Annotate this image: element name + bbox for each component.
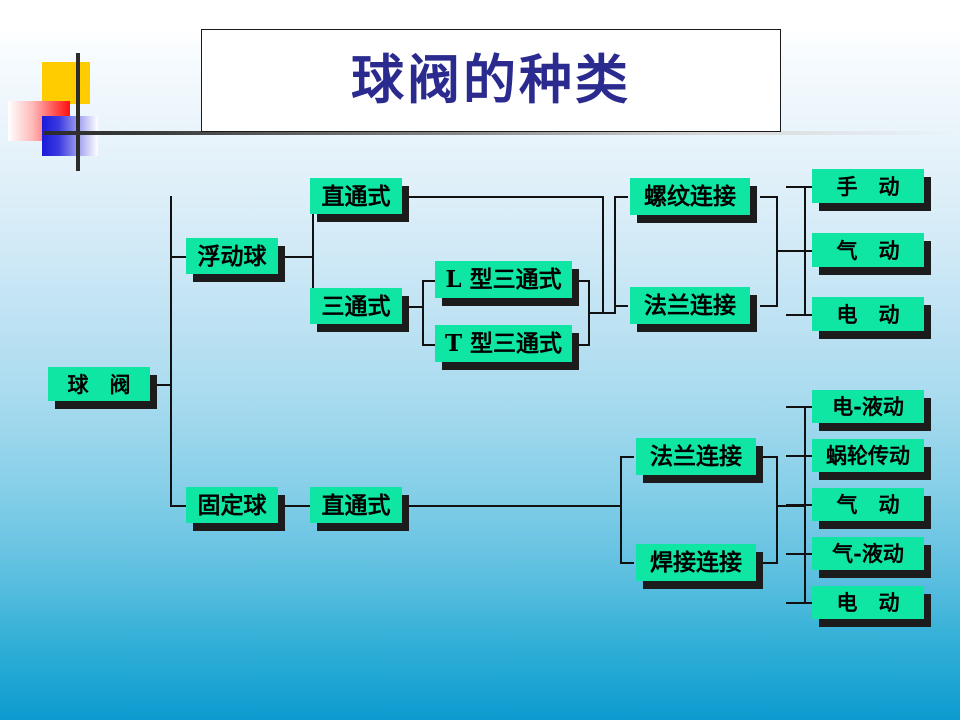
connector-to-pneumatic-bottom — [786, 504, 814, 506]
node-l-three-way[interactable]: L 型三通式 — [435, 261, 572, 298]
node-root-ball-valve[interactable]: 球 阀 — [48, 367, 150, 401]
node-flange-connection-top[interactable]: 法兰连接 — [630, 287, 750, 324]
node-face: 固定球 — [186, 487, 278, 523]
logo-yellow-square — [42, 62, 90, 104]
connector-upper-merge-join — [588, 312, 616, 314]
node-pneumatic-top[interactable]: 气 动 — [812, 233, 924, 267]
node-face: 直通式 — [310, 487, 402, 523]
node-face: 手 动 — [812, 169, 924, 203]
node-weld-connection[interactable]: 焊接连接 — [636, 544, 756, 581]
node-electro-hydraulic[interactable]: 电-液动 — [812, 390, 924, 423]
node-t-three-way[interactable]: T 型三通式 — [435, 325, 572, 362]
connector-conn-branch-vertical — [614, 196, 616, 312]
node-pneumatic-bottom[interactable]: 气 动 — [812, 488, 924, 521]
connector-to-pneumatic-hydraulic — [786, 553, 814, 555]
node-face: L 型三通式 — [435, 261, 572, 298]
connector-to-electric-bottom — [786, 602, 814, 604]
connector-to-thread — [614, 196, 628, 198]
node-label: 直通式 — [322, 185, 391, 208]
connector-to-electric-top — [786, 314, 814, 316]
connector-threeway-vertical — [422, 280, 424, 346]
slide-canvas: 球阀的种类 — [0, 0, 960, 720]
connector-bottom-conn-vertical — [620, 456, 622, 564]
logo-blue-gradient-rect — [42, 116, 98, 156]
node-three-way[interactable]: 三通式 — [310, 288, 402, 324]
node-face: 气 动 — [812, 233, 924, 267]
node-face: 法兰连接 — [630, 287, 750, 324]
node-label: 螺纹连接 — [644, 185, 736, 208]
node-label: 法兰连接 — [644, 294, 736, 317]
connector-straight-top-right — [400, 196, 604, 198]
node-manual[interactable]: 手 动 — [812, 169, 924, 203]
page-title: 球阀的种类 — [351, 54, 631, 107]
node-face: 浮动球 — [186, 238, 278, 274]
node-flange-connection-bottom[interactable]: 法兰连接 — [636, 438, 756, 475]
connector-to-manual — [786, 186, 814, 188]
node-label: 焊接连接 — [650, 551, 742, 574]
node-face: 气 动 — [812, 488, 924, 521]
node-face: 直通式 — [310, 178, 402, 214]
node-label: 气-液动 — [832, 543, 904, 564]
node-face: 螺纹连接 — [630, 178, 750, 215]
node-label: 电 动 — [837, 592, 900, 613]
node-face: 法兰连接 — [636, 438, 756, 475]
node-face: T 型三通式 — [435, 325, 572, 362]
node-label: 气 动 — [837, 494, 900, 515]
connector-straight-bottom-right — [400, 505, 622, 507]
connector-threeway-to-l — [422, 280, 436, 282]
connector-threeway-to-t — [422, 344, 436, 346]
node-face: 电 动 — [812, 297, 924, 331]
node-face: 气-液动 — [812, 537, 924, 570]
connector-to-weld — [620, 562, 634, 564]
node-face: 蜗轮传动 — [812, 439, 924, 472]
node-face: 电 动 — [812, 586, 924, 619]
node-fixed-ball[interactable]: 固定球 — [186, 487, 278, 523]
node-label: T 型三通式 — [445, 332, 562, 355]
node-label: 电 动 — [837, 304, 900, 325]
connector-floating-stem — [282, 256, 314, 258]
node-face: 焊接连接 — [636, 544, 756, 581]
node-straight-through-bottom[interactable]: 直通式 — [310, 487, 402, 523]
node-straight-through-top[interactable]: 直通式 — [310, 178, 402, 214]
node-face: 电-液动 — [812, 390, 924, 423]
connector-to-flange-bottom — [620, 456, 634, 458]
node-label: 球 阀 — [68, 374, 131, 395]
node-electric-top[interactable]: 电 动 — [812, 297, 924, 331]
node-thread-connection[interactable]: 螺纹连接 — [630, 178, 750, 215]
node-label: 浮动球 — [198, 245, 267, 268]
node-label: 直通式 — [322, 494, 391, 517]
node-floating-ball[interactable]: 浮动球 — [186, 238, 278, 274]
connector-to-pneumatic-top — [786, 250, 814, 252]
node-label: 蜗轮传动 — [826, 445, 910, 466]
node-worm-gear-drive[interactable]: 蜗轮传动 — [812, 439, 924, 472]
node-label: 电-液动 — [832, 396, 904, 417]
decorative-logo — [0, 38, 150, 158]
logo-vertical-line — [76, 53, 80, 171]
connector-root-vertical — [170, 196, 172, 506]
connector-to-worm-gear — [786, 455, 814, 457]
node-label: 手 动 — [837, 176, 900, 197]
connector-to-flange-top — [614, 305, 628, 307]
connector-to-electro-hydraulic — [786, 406, 814, 408]
node-pneumatic-hydraulic[interactable]: 气-液动 — [812, 537, 924, 570]
connector-upper-merge-vertical — [602, 196, 604, 312]
node-face: 球 阀 — [48, 367, 150, 401]
node-label: L 型三通式 — [445, 268, 561, 291]
node-electric-bottom[interactable]: 电 动 — [812, 586, 924, 619]
node-label: 固定球 — [198, 494, 267, 517]
node-face: 三通式 — [310, 288, 402, 324]
node-label: 三通式 — [322, 295, 391, 318]
title-box: 球阀的种类 — [201, 29, 781, 132]
node-label: 法兰连接 — [650, 445, 742, 468]
connector-bottom-merge-vertical — [776, 456, 778, 564]
node-label: 气 动 — [837, 240, 900, 261]
